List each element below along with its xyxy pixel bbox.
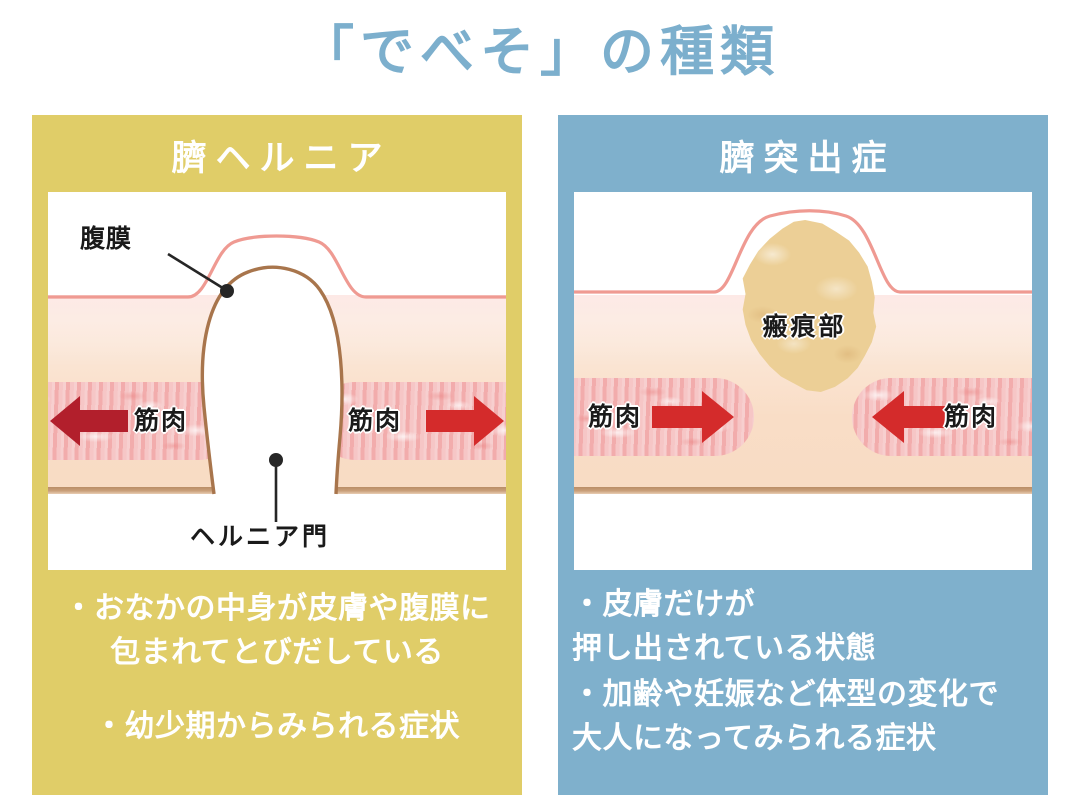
label-muscle-left: 筋肉: [134, 406, 188, 436]
label-muscle-right: 筋肉: [944, 402, 998, 432]
card-title-umbilical-protrusion: 臍突出症: [558, 137, 1048, 181]
hernia-orifice-pointer-dot: [269, 453, 283, 467]
bullet-item: ・加齢や妊娠など体型の変化で 大人になってみられる症状: [572, 673, 1034, 761]
peritoneum-line: [574, 487, 1032, 494]
peritoneum-pointer-dot: [220, 284, 234, 298]
diagram-umbilical-hernia: 腹膜 ヘルニア門 筋肉 筋肉: [48, 192, 506, 570]
page-title: 「でべそ」の種類: [0, 18, 1080, 86]
label-peritoneum: 腹膜: [80, 224, 132, 254]
bullet-list-umbilical-protrusion: ・皮膚だけが 押し出されている状態 ・加齢や妊娠など体型の変化で 大人になってみ…: [558, 583, 1048, 761]
diagram-umbilical-protrusion: 瘢痕部 筋肉 筋肉: [574, 192, 1032, 570]
peritoneum-line: [48, 487, 506, 494]
card-umbilical-protrusion: 臍突出症 瘢痕部 筋肉 筋肉: [558, 115, 1048, 795]
bullet-item: ・皮膚だけが 押し出されている状態: [572, 583, 1034, 671]
card-umbilical-hernia: 臍ヘルニア: [32, 115, 522, 795]
label-muscle-right: 筋肉: [348, 406, 402, 436]
label-muscle-left: 筋肉: [588, 402, 642, 432]
label-hernia-orifice: ヘルニア門: [190, 522, 330, 552]
bullet-item: ・おなかの中身が皮膚や腹膜に 包まれてとびだしている: [54, 587, 500, 675]
label-scar-area: 瘢痕部: [574, 312, 1032, 342]
card-title-umbilical-hernia: 臍ヘルニア: [32, 137, 522, 181]
infographic-page: 「でべそ」の種類 臍ヘルニア: [0, 0, 1080, 810]
bullet-list-umbilical-hernia: ・おなかの中身が皮膚や腹膜に 包まれてとびだしている ・幼少期からみられる症状: [32, 587, 522, 749]
muscle-band-right: [852, 378, 1032, 456]
dermis-layer: [48, 295, 506, 367]
muscle-band-right: [316, 382, 506, 460]
bullet-item: ・幼少期からみられる症状: [54, 705, 500, 749]
